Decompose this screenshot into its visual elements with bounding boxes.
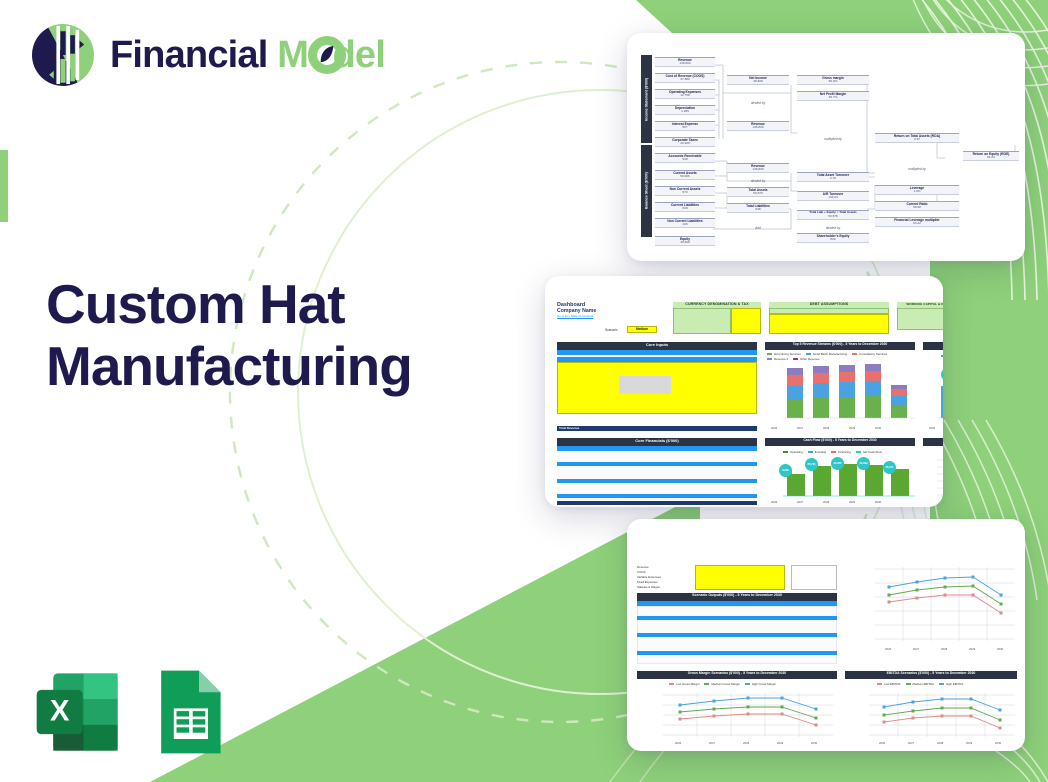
- core-inputs-greyed-cells: [619, 376, 671, 394]
- axis-label-2030: 2030: [875, 426, 881, 430]
- working-capital-labels: [897, 308, 943, 330]
- sc0-axis-2027: 2027: [913, 647, 919, 651]
- brand-logo-lockup: Financial M odel: [30, 22, 385, 88]
- core-inputs-year-header: [557, 350, 757, 355]
- excel-x-glyph: X: [50, 694, 70, 727]
- dupont-node-financial-leverage-multiplier: Financial Leverage multiplier63.22: [875, 217, 959, 227]
- dupont-analysis-screenshot[interactable]: Income Statement ($'000) Balance Sheet (…: [627, 33, 1025, 261]
- dashboard-screenshot[interactable]: Dashboard Company Name Go to Key Table o…: [545, 276, 943, 507]
- microsoft-excel-icon[interactable]: X: [33, 666, 125, 758]
- chart-title-cash-flow: Cash Flow ($'000) - 5 Years to December …: [765, 438, 915, 446]
- core-financials-ebitda-row: [557, 479, 757, 483]
- payback-line-chart: [923, 456, 943, 504]
- page-title: Custom Hat Manufacturing: [46, 274, 446, 397]
- financial-model-logo-icon: [30, 22, 96, 88]
- dupont-node-revenue: Revenue136,800: [655, 57, 715, 67]
- dupont-node-non-current-assets: Non Current Assets570: [655, 186, 715, 196]
- currency-values-cells[interactable]: [731, 308, 761, 334]
- slide-canvas: Financial M odel Custom Hat Manufacturin…: [0, 0, 1048, 782]
- dashboard-toc-link[interactable]: Go to Key Table of Contents: [557, 314, 596, 318]
- axis-label-2029: 2029: [849, 426, 855, 430]
- eb-axis-2029: 2029: [966, 741, 972, 745]
- dupont-node-total-assets: Total Assets50,576: [727, 187, 789, 197]
- core-financials-cash-row: [557, 501, 757, 505]
- dashboard-title-block: Dashboard Company Name Go to Key Table o…: [557, 302, 596, 318]
- dupont-node-revenue-2: Revenue136,800: [727, 121, 789, 131]
- cf-axis-2028: 2028: [823, 500, 829, 504]
- gm-axis-2028: 2028: [743, 741, 749, 745]
- axis-label-2026: 2026: [771, 426, 777, 430]
- sc0-axis-2028: 2028: [941, 647, 947, 651]
- cashflow-bubble-2028: 30,350: [831, 457, 844, 470]
- dupont-node-ar-turnover: A/R Turnover144.24: [797, 191, 869, 201]
- dupont-node-non-current-liabilities: Non Current Liabilities100: [655, 218, 715, 228]
- gm-axis-2029: 2029: [777, 741, 783, 745]
- scenario-analysis-screenshot[interactable]: Revenue COGS Variable Expenses Fixed Exp…: [627, 519, 1025, 751]
- dupont-node-net-profit-margin: Net Profit Margin35.7%: [797, 91, 869, 101]
- ebitda-legend: Low EBITDA Medium EBITDA High EBITDA: [877, 682, 963, 686]
- core-financials-gross-margin-row: [557, 462, 757, 466]
- gross-margin-scenarios-title: Gross Margin Scenarios ($'000) - 5 Years…: [637, 671, 837, 679]
- cashflow-bubble-2030: 28,017: [883, 461, 896, 474]
- eb-axis-2028: 2028: [937, 741, 943, 745]
- debt-input-cells[interactable]: [769, 314, 889, 334]
- chart-title-investment-payback: Investment Payback Chart ($'000) - 5 Yea…: [923, 438, 943, 446]
- cashflow-bubble-2026: 8,666: [779, 464, 792, 477]
- core-inputs-total-label: Total Revenue: [559, 426, 579, 430]
- top5-revenue-bars: [765, 362, 917, 424]
- dupont-node-total-liabilities: Total Liabilities948: [727, 203, 789, 213]
- dupont-node-total-asset-turnover: Total Asset Turnover2.70: [797, 172, 869, 182]
- chart-legend-top5-revenue: Hat printing Services Small Batch Manufa…: [767, 352, 887, 356]
- google-sheets-icon[interactable]: [153, 667, 227, 757]
- core-financials-table-title: Core Financials ($'000): [557, 438, 757, 446]
- dupont-node-equity: Equity49,628: [655, 236, 715, 246]
- dupont-node-revenue-3: Revenue136,800: [727, 163, 789, 173]
- axis-label-2027: 2027: [797, 426, 803, 430]
- dupont-node-current-liabilities: Current Liabilities848: [655, 202, 715, 212]
- profitability-bars: [923, 360, 943, 424]
- dupont-node-return-on-equity: Return on Equity (ROE)61.03: [963, 151, 1019, 161]
- dupont-node-gross-margin: Gross margin65.0%: [797, 75, 869, 85]
- dupont-node-opex: Operating Expenses12,758: [655, 89, 715, 99]
- chart-title-profitability: Profitability ($'000) - 5 Years to Decem…: [923, 342, 943, 350]
- dupont-node-accounts-receivable: Accounts Receivable948: [655, 153, 715, 163]
- prof-axis-2026: 2026: [929, 426, 935, 430]
- ebitda-scenarios-chart: [845, 689, 1019, 747]
- currency-label-cells: [673, 308, 731, 334]
- ebitda-scenarios-title: EBITDA Scenarios ($'000) - 5 Years to De…: [845, 671, 1017, 679]
- dupont-operator-add: Add: [727, 226, 789, 230]
- sc0-axis-2029: 2029: [969, 647, 975, 651]
- dupont-node-current-assets: Current Assets50,006: [655, 170, 715, 180]
- core-inputs-total-row: [557, 426, 757, 431]
- scenario-gross-margin-row: [637, 616, 837, 620]
- eb-axis-2030: 2030: [995, 741, 1001, 745]
- scenario-label: Scenario: [605, 328, 618, 332]
- gross-margin-legend: Low Gross Margin Medium Gross Margin Hig…: [669, 682, 776, 686]
- cf-axis-2027: 2027: [797, 500, 803, 504]
- brand-letter-o-with-chart-icon: o: [308, 36, 332, 74]
- scenario-outputs-title: Scenario Outputs ($'000) - 5 Years to De…: [637, 593, 837, 601]
- dupont-operator-divided-by-2: divided by: [727, 179, 789, 183]
- scenario-value: Medium: [627, 327, 657, 331]
- eb-axis-2026: 2026: [879, 741, 885, 745]
- dupont-node-leverage: Leverage1.9%: [875, 185, 959, 195]
- dupont-node-return-on-total-assets: Return on Total Assets (ROA)0.97: [875, 133, 959, 143]
- dupont-node-net-income: Net Income48,828: [727, 75, 789, 85]
- dupont-operator-multiplied-by-2: multiplied by: [875, 167, 959, 171]
- dupont-node-interest-expense: Interest Expense527: [655, 121, 715, 131]
- sc0-axis-2030: 2030: [997, 647, 1003, 651]
- scenario-contribution-margin-row: [637, 633, 837, 637]
- gm-axis-2027: 2027: [709, 741, 715, 745]
- brand-word-model-prefix: M: [277, 34, 308, 76]
- core-inputs-table-title: Core Inputs: [557, 342, 757, 350]
- brand-word-financial: Financial: [110, 34, 268, 76]
- brand-wordmark: Financial M odel: [110, 36, 385, 74]
- cf-axis-2029: 2029: [849, 500, 855, 504]
- axis-label-2028: 2028: [823, 426, 829, 430]
- dupont-operator-divided-by-3: divided by: [797, 226, 869, 230]
- chart-title-top5-revenue: Top 5 Revenue Streams ($'000) - 5 Years …: [765, 342, 915, 350]
- chart-legend-profitability: Revenue EBITDA EBITDA %: [941, 354, 943, 358]
- cf-axis-2030: 2030: [875, 500, 881, 504]
- cashflow-bubble-2029: 30,099: [857, 457, 870, 470]
- file-format-icons: X: [33, 666, 227, 758]
- dupont-node-corporate-taxes: Corporate Taxes20,926: [655, 137, 715, 147]
- dupont-operator-divided-by-1: divided by: [727, 101, 789, 105]
- chart-legend-top5-revenue-2: Revenue 4 Other Revenue: [767, 357, 820, 361]
- scenario-assumption-labels: Revenue COGS Variable Expenses Fixed Exp…: [637, 565, 695, 590]
- dupont-node-current-ratio: Current Ratio58.98: [875, 201, 959, 211]
- dupont-node-total-liab-equity: Total Liab + Equity = Total Assets50,576: [797, 210, 869, 220]
- core-financials-cashflow-row: [557, 494, 757, 498]
- gm-axis-2026: 2026: [675, 741, 681, 745]
- dupont-operator-multiplied-by-1: multiplied by: [797, 137, 869, 141]
- eb-axis-2027: 2027: [908, 741, 914, 745]
- chart-legend-cash-flow: Operating Investing Financing Net Cash F…: [783, 450, 882, 454]
- gm-axis-2030: 2030: [811, 741, 817, 745]
- cashflow-bubble-2027: 25,730: [805, 458, 818, 471]
- dupont-node-depreciation: Depreciation1,265: [655, 105, 715, 115]
- scenario-active-column: [791, 565, 837, 590]
- sc0-axis-2026: 2026: [885, 647, 891, 651]
- dupont-node-shareholders-equity: Shareholder's Equity800: [797, 233, 869, 243]
- scenario-ebitda-row: [637, 651, 837, 655]
- dupont-node-cogs: Cost of Revenue (COGS)47,880: [655, 73, 715, 83]
- gross-margin-scenarios-chart: [637, 689, 837, 747]
- cf-axis-2026: 2026: [771, 500, 777, 504]
- scenario-overview-chart: [857, 561, 1017, 671]
